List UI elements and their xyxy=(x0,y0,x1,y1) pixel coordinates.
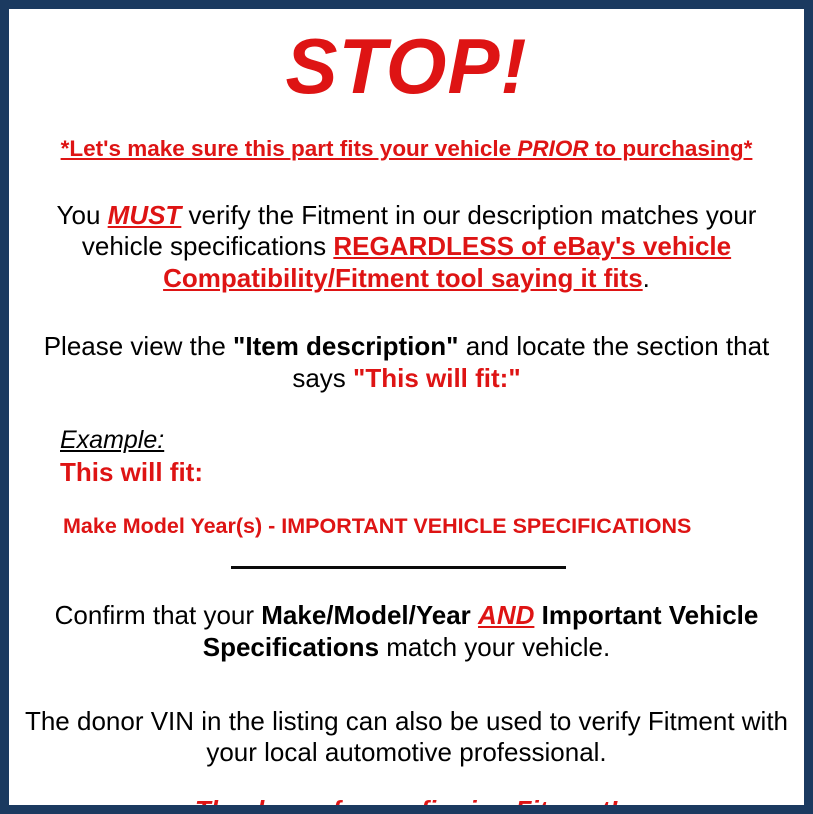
must-emphasis: MUST xyxy=(108,200,182,230)
must-verify-paragraph: You MUST verify the Fitment in our descr… xyxy=(23,200,790,295)
donor-vin-paragraph: The donor VIN in the listing can also be… xyxy=(23,706,790,769)
tagline-emphasis-prior: PRIOR xyxy=(517,136,588,161)
and-emphasis: AND xyxy=(478,600,534,630)
confirm-seg-4: match your vehicle. xyxy=(379,632,610,662)
must-seg-3: . xyxy=(643,263,650,293)
tagline-suffix: to purchasing* xyxy=(589,136,753,161)
page-title: STOP! xyxy=(23,27,790,105)
must-seg-1: You xyxy=(57,200,108,230)
tagline: *Let's make sure this part fits your veh… xyxy=(23,137,790,162)
divider xyxy=(23,566,790,576)
item-description-emphasis: "Item description" xyxy=(233,331,458,361)
confirm-seg-3 xyxy=(534,600,541,630)
thank-you-message: Thank you for confirming Fitment! xyxy=(23,795,790,814)
horizontal-rule-icon xyxy=(231,566,566,569)
this-will-fit-emphasis: "This will fit:" xyxy=(353,363,521,393)
example-block: Example: This will fit: Make Model Year(… xyxy=(23,426,790,540)
example-label: Example: xyxy=(60,426,790,455)
example-specification-line: Make Model Year(s) - IMPORTANT VEHICLE S… xyxy=(63,514,790,540)
confirm-seg-2 xyxy=(471,600,478,630)
item-description-paragraph: Please view the "Item description" and l… xyxy=(23,331,790,394)
view-seg-1: Please view the xyxy=(44,331,233,361)
confirm-paragraph: Confirm that your Make/Model/Year AND Im… xyxy=(23,600,790,663)
make-model-year-emphasis: Make/Model/Year xyxy=(261,600,471,630)
example-this-will-fit: This will fit: xyxy=(60,457,790,488)
tagline-prefix: *Let's make sure this part fits your veh… xyxy=(61,136,518,161)
fitment-notice-card: STOP! *Let's make sure this part fits yo… xyxy=(0,0,813,814)
confirm-seg-1: Confirm that your xyxy=(55,600,262,630)
